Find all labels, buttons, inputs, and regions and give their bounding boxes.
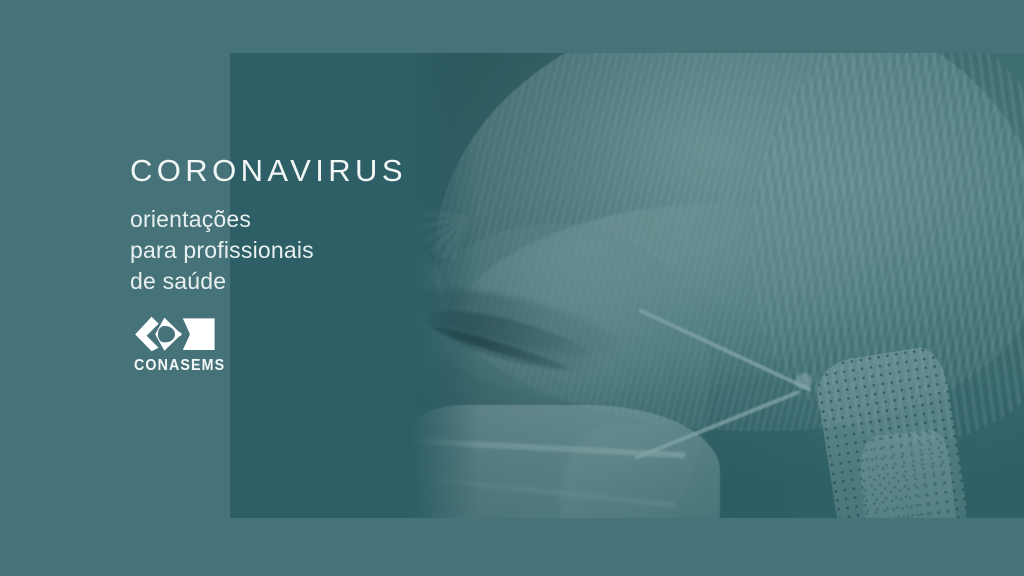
subtitle-line-2: para profissionais — [130, 235, 407, 266]
conasems-logo-mark — [134, 316, 216, 352]
headline-block: CORONAVIRUS orientações para profissiona… — [130, 155, 407, 297]
subtitle-line-1: orientações — [130, 204, 407, 235]
conasems-wordmark: CONASEMS — [134, 357, 217, 375]
subtitle-line-3: de saúde — [130, 266, 407, 297]
conasems-logo: CONASEMS — [134, 316, 224, 375]
page-title: CORONAVIRUS — [130, 155, 407, 186]
subtitle: orientações para profissionais de saúde — [130, 204, 407, 297]
slide: CORONAVIRUS orientações para profissiona… — [0, 0, 1024, 576]
